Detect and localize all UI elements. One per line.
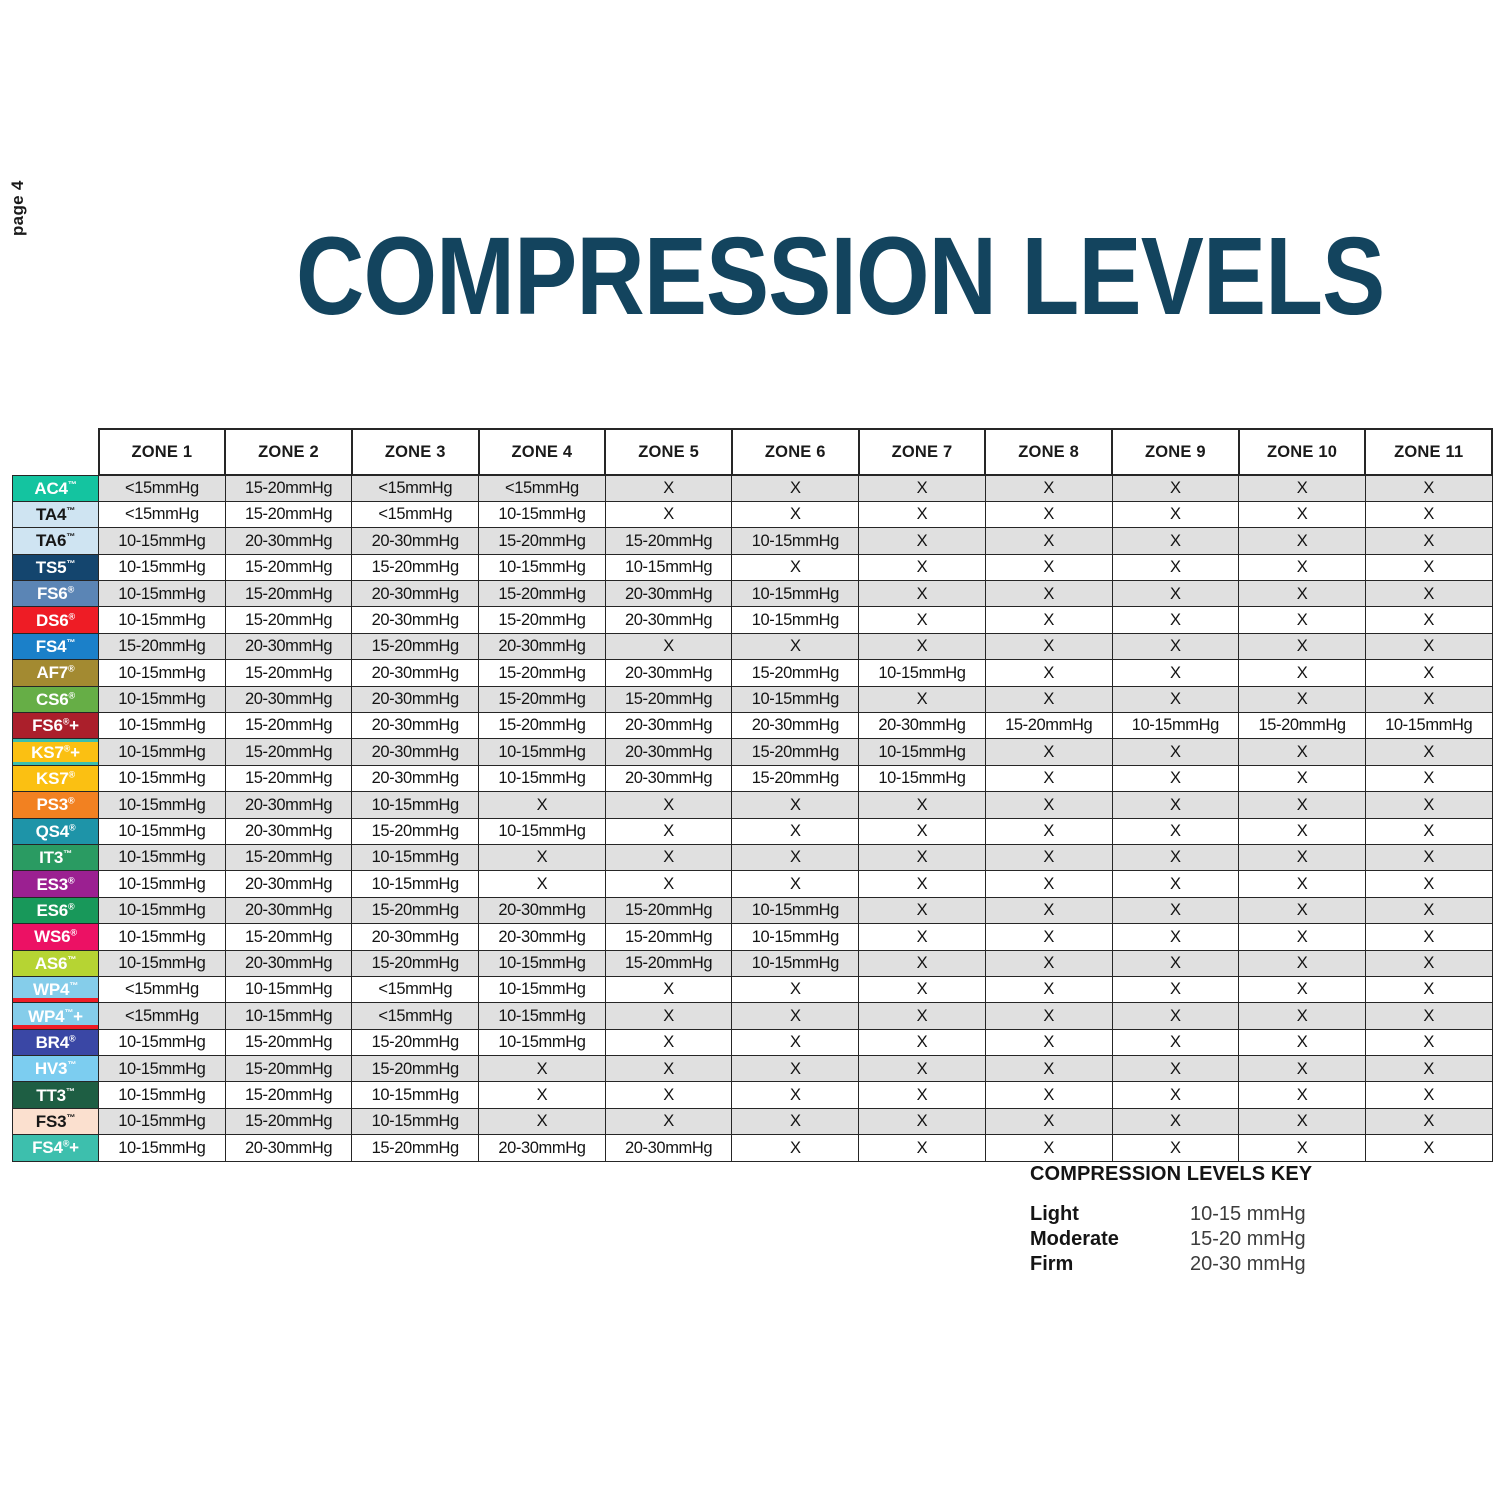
- cell-r5-zone11: X: [1365, 581, 1492, 607]
- cell-r26-zone9: X: [1112, 1135, 1239, 1161]
- product-label-hv3: HV3™: [13, 1056, 99, 1082]
- cell-r12-zone1: 10-15mmHg: [99, 765, 226, 791]
- cell-r3-zone10: X: [1239, 528, 1366, 554]
- cell-r17-zone8: X: [985, 897, 1112, 923]
- cell-r14-zone5: X: [605, 818, 732, 844]
- cell-r15-zone11: X: [1365, 844, 1492, 870]
- cell-r10-zone6: 20-30mmHg: [732, 713, 859, 739]
- cell-r8-zone9: X: [1112, 660, 1239, 686]
- cell-r3-zone2: 20-30mmHg: [225, 528, 352, 554]
- cell-r6-zone5: 20-30mmHg: [605, 607, 732, 633]
- cell-r7-zone2: 20-30mmHg: [225, 633, 352, 659]
- cell-r9-zone9: X: [1112, 686, 1239, 712]
- cell-r14-zone2: 20-30mmHg: [225, 818, 352, 844]
- product-label-fs4: FS4™: [13, 633, 99, 659]
- cell-r2-zone1: <15mmHg: [99, 501, 226, 527]
- cell-r22-zone11: X: [1365, 1029, 1492, 1055]
- cell-r18-zone3: 20-30mmHg: [352, 924, 479, 950]
- cell-r12-zone5: 20-30mmHg: [605, 765, 732, 791]
- cell-r9-zone6: 10-15mmHg: [732, 686, 859, 712]
- cell-r4-zone2: 15-20mmHg: [225, 554, 352, 580]
- cell-r1-zone3: <15mmHg: [352, 475, 479, 501]
- cell-r25-zone2: 15-20mmHg: [225, 1108, 352, 1134]
- cell-r4-zone4: 10-15mmHg: [479, 554, 606, 580]
- cell-r9-zone1: 10-15mmHg: [99, 686, 226, 712]
- cell-r5-zone9: X: [1112, 581, 1239, 607]
- cell-r4-zone9: X: [1112, 554, 1239, 580]
- key-rows: Light10-15 mmHgModerate15-20 mmHgFirm20-…: [1030, 1202, 1450, 1277]
- cell-r2-zone7: X: [859, 501, 986, 527]
- cell-r23-zone3: 15-20mmHg: [352, 1056, 479, 1082]
- zone-header-1: ZONE 1: [99, 429, 226, 475]
- cell-r17-zone4: 20-30mmHg: [479, 897, 606, 923]
- cell-r10-zone4: 15-20mmHg: [479, 713, 606, 739]
- cell-r6-zone7: X: [859, 607, 986, 633]
- cell-r14-zone8: X: [985, 818, 1112, 844]
- cell-r8-zone10: X: [1239, 660, 1366, 686]
- cell-r10-zone5: 20-30mmHg: [605, 713, 732, 739]
- cell-r25-zone7: X: [859, 1108, 986, 1134]
- cell-r18-zone2: 15-20mmHg: [225, 924, 352, 950]
- cell-r7-zone7: X: [859, 633, 986, 659]
- cell-r26-zone6: X: [732, 1135, 859, 1161]
- cell-r21-zone9: X: [1112, 1003, 1239, 1029]
- cell-r22-zone3: 15-20mmHg: [352, 1029, 479, 1055]
- cell-r12-zone7: 10-15mmHg: [859, 765, 986, 791]
- cell-r7-zone5: X: [605, 633, 732, 659]
- cell-r15-zone9: X: [1112, 844, 1239, 870]
- cell-r24-zone9: X: [1112, 1082, 1239, 1108]
- key-term: Moderate: [1030, 1227, 1190, 1252]
- cell-r17-zone5: 15-20mmHg: [605, 897, 732, 923]
- cell-r24-zone5: X: [605, 1082, 732, 1108]
- cell-r17-zone10: X: [1239, 897, 1366, 923]
- zone-header-5: ZONE 5: [605, 429, 732, 475]
- cell-r16-zone10: X: [1239, 871, 1366, 897]
- cell-r23-zone1: 10-15mmHg: [99, 1056, 226, 1082]
- cell-r1-zone11: X: [1365, 475, 1492, 501]
- table-row: CS6®10-15mmHg20-30mmHg20-30mmHg15-20mmHg…: [13, 686, 1493, 712]
- cell-r24-zone8: X: [985, 1082, 1112, 1108]
- cell-r21-zone4: 10-15mmHg: [479, 1003, 606, 1029]
- cell-r11-zone3: 20-30mmHg: [352, 739, 479, 765]
- cell-r13-zone10: X: [1239, 792, 1366, 818]
- cell-r3-zone5: 15-20mmHg: [605, 528, 732, 554]
- table-row: TT3™10-15mmHg15-20mmHg10-15mmHgXXXXXXXX: [13, 1082, 1493, 1108]
- cell-r17-zone7: X: [859, 897, 986, 923]
- product-label-wp4-plus: WP4™+: [13, 1003, 99, 1029]
- cell-r18-zone4: 20-30mmHg: [479, 924, 606, 950]
- cell-r25-zone10: X: [1239, 1108, 1366, 1134]
- cell-r26-zone4: 20-30mmHg: [479, 1135, 606, 1161]
- cell-r13-zone4: X: [479, 792, 606, 818]
- cell-r7-zone3: 15-20mmHg: [352, 633, 479, 659]
- product-label-wp4: WP4™: [13, 976, 99, 1002]
- cell-r15-zone8: X: [985, 844, 1112, 870]
- cell-r5-zone4: 15-20mmHg: [479, 581, 606, 607]
- cell-r25-zone8: X: [985, 1108, 1112, 1134]
- cell-r14-zone3: 15-20mmHg: [352, 818, 479, 844]
- cell-r11-zone10: X: [1239, 739, 1366, 765]
- cell-r22-zone8: X: [985, 1029, 1112, 1055]
- cell-r7-zone4: 20-30mmHg: [479, 633, 606, 659]
- table-row: AC4™<15mmHg15-20mmHg<15mmHg<15mmHgXXXXXX…: [13, 475, 1493, 501]
- zone-header-11: ZONE 11: [1365, 429, 1492, 475]
- cell-r19-zone3: 15-20mmHg: [352, 950, 479, 976]
- cell-r9-zone8: X: [985, 686, 1112, 712]
- cell-r14-zone4: 10-15mmHg: [479, 818, 606, 844]
- cell-r4-zone1: 10-15mmHg: [99, 554, 226, 580]
- zone-header-4: ZONE 4: [479, 429, 606, 475]
- cell-r22-zone2: 15-20mmHg: [225, 1029, 352, 1055]
- cell-r16-zone6: X: [732, 871, 859, 897]
- cell-r11-zone4: 10-15mmHg: [479, 739, 606, 765]
- cell-r26-zone2: 20-30mmHg: [225, 1135, 352, 1161]
- cell-r15-zone3: 10-15mmHg: [352, 844, 479, 870]
- cell-r11-zone2: 15-20mmHg: [225, 739, 352, 765]
- cell-r5-zone2: 15-20mmHg: [225, 581, 352, 607]
- cell-r21-zone5: X: [605, 1003, 732, 1029]
- cell-r7-zone10: X: [1239, 633, 1366, 659]
- cell-r13-zone8: X: [985, 792, 1112, 818]
- cell-r18-zone11: X: [1365, 924, 1492, 950]
- cell-r14-zone7: X: [859, 818, 986, 844]
- cell-r18-zone7: X: [859, 924, 986, 950]
- key-value: 10-15 mmHg: [1190, 1202, 1306, 1227]
- cell-r24-zone11: X: [1365, 1082, 1492, 1108]
- cell-r8-zone7: 10-15mmHg: [859, 660, 986, 686]
- table-row: TA6™10-15mmHg20-30mmHg20-30mmHg15-20mmHg…: [13, 528, 1493, 554]
- cell-r15-zone4: X: [479, 844, 606, 870]
- cell-r9-zone2: 20-30mmHg: [225, 686, 352, 712]
- cell-r17-zone6: 10-15mmHg: [732, 897, 859, 923]
- cell-r11-zone7: 10-15mmHg: [859, 739, 986, 765]
- cell-r6-zone10: X: [1239, 607, 1366, 633]
- cell-r16-zone3: 10-15mmHg: [352, 871, 479, 897]
- cell-r18-zone10: X: [1239, 924, 1366, 950]
- table-row: KS7®+10-15mmHg15-20mmHg20-30mmHg10-15mmH…: [13, 739, 1493, 765]
- cell-r18-zone8: X: [985, 924, 1112, 950]
- table-row: QS4®10-15mmHg20-30mmHg15-20mmHg10-15mmHg…: [13, 818, 1493, 844]
- cell-r15-zone7: X: [859, 844, 986, 870]
- cell-r20-zone1: <15mmHg: [99, 976, 226, 1002]
- cell-r24-zone1: 10-15mmHg: [99, 1082, 226, 1108]
- cell-r6-zone3: 20-30mmHg: [352, 607, 479, 633]
- cell-r20-zone8: X: [985, 976, 1112, 1002]
- cell-r21-zone11: X: [1365, 1003, 1492, 1029]
- cell-r16-zone1: 10-15mmHg: [99, 871, 226, 897]
- cell-r5-zone5: 20-30mmHg: [605, 581, 732, 607]
- table-row: FS4®+10-15mmHg20-30mmHg15-20mmHg20-30mmH…: [13, 1135, 1493, 1161]
- cell-r14-zone11: X: [1365, 818, 1492, 844]
- zone-header-9: ZONE 9: [1112, 429, 1239, 475]
- cell-r24-zone4: X: [479, 1082, 606, 1108]
- zone-header-7: ZONE 7: [859, 429, 986, 475]
- cell-r25-zone9: X: [1112, 1108, 1239, 1134]
- key-term: Light: [1030, 1202, 1190, 1227]
- product-label-cs6: CS6®: [13, 686, 99, 712]
- cell-r18-zone9: X: [1112, 924, 1239, 950]
- cell-r19-zone7: X: [859, 950, 986, 976]
- cell-r13-zone5: X: [605, 792, 732, 818]
- cell-r20-zone6: X: [732, 976, 859, 1002]
- cell-r16-zone11: X: [1365, 871, 1492, 897]
- cell-r5-zone1: 10-15mmHg: [99, 581, 226, 607]
- cell-r26-zone3: 15-20mmHg: [352, 1135, 479, 1161]
- cell-r24-zone6: X: [732, 1082, 859, 1108]
- cell-r12-zone3: 20-30mmHg: [352, 765, 479, 791]
- table-row: WS6®10-15mmHg15-20mmHg20-30mmHg20-30mmHg…: [13, 924, 1493, 950]
- cell-r14-zone9: X: [1112, 818, 1239, 844]
- cell-r4-zone7: X: [859, 554, 986, 580]
- cell-r21-zone2: 10-15mmHg: [225, 1003, 352, 1029]
- product-label-ds6: DS6®: [13, 607, 99, 633]
- cell-r19-zone4: 10-15mmHg: [479, 950, 606, 976]
- cell-r6-zone6: 10-15mmHg: [732, 607, 859, 633]
- cell-r5-zone8: X: [985, 581, 1112, 607]
- table-row: FS6®+10-15mmHg15-20mmHg20-30mmHg15-20mmH…: [13, 713, 1493, 739]
- table-row: ES6®10-15mmHg20-30mmHg15-20mmHg20-30mmHg…: [13, 897, 1493, 923]
- cell-r2-zone5: X: [605, 501, 732, 527]
- cell-r23-zone7: X: [859, 1056, 986, 1082]
- cell-r9-zone11: X: [1365, 686, 1492, 712]
- cell-r1-zone4: <15mmHg: [479, 475, 606, 501]
- cell-r6-zone8: X: [985, 607, 1112, 633]
- cell-r10-zone2: 15-20mmHg: [225, 713, 352, 739]
- cell-r24-zone3: 10-15mmHg: [352, 1082, 479, 1108]
- cell-r2-zone6: X: [732, 501, 859, 527]
- table-row: HV3™10-15mmHg15-20mmHg15-20mmHgXXXXXXXX: [13, 1056, 1493, 1082]
- cell-r10-zone9: 10-15mmHg: [1112, 713, 1239, 739]
- cell-r1-zone7: X: [859, 475, 986, 501]
- cell-r22-zone7: X: [859, 1029, 986, 1055]
- cell-r10-zone8: 15-20mmHg: [985, 713, 1112, 739]
- cell-r23-zone11: X: [1365, 1056, 1492, 1082]
- cell-r5-zone6: 10-15mmHg: [732, 581, 859, 607]
- cell-r21-zone8: X: [985, 1003, 1112, 1029]
- cell-r1-zone2: 15-20mmHg: [225, 475, 352, 501]
- cell-r12-zone10: X: [1239, 765, 1366, 791]
- table-row: TS5™10-15mmHg15-20mmHg15-20mmHg10-15mmHg…: [13, 554, 1493, 580]
- key-entry: Firm20-30 mmHg: [1030, 1252, 1450, 1277]
- cell-r13-zone1: 10-15mmHg: [99, 792, 226, 818]
- cell-r20-zone10: X: [1239, 976, 1366, 1002]
- zone-header-row: ZONE 1ZONE 2ZONE 3ZONE 4ZONE 5ZONE 6ZONE…: [13, 429, 1493, 475]
- cell-r2-zone8: X: [985, 501, 1112, 527]
- cell-r3-zone1: 10-15mmHg: [99, 528, 226, 554]
- product-label-ws6: WS6®: [13, 924, 99, 950]
- cell-r7-zone9: X: [1112, 633, 1239, 659]
- cell-r18-zone6: 10-15mmHg: [732, 924, 859, 950]
- cell-r7-zone8: X: [985, 633, 1112, 659]
- cell-r13-zone2: 20-30mmHg: [225, 792, 352, 818]
- cell-r25-zone11: X: [1365, 1108, 1492, 1134]
- cell-r5-zone10: X: [1239, 581, 1366, 607]
- compression-levels-table: ZONE 1ZONE 2ZONE 3ZONE 4ZONE 5ZONE 6ZONE…: [12, 428, 1493, 1162]
- cell-r22-zone6: X: [732, 1029, 859, 1055]
- product-label-as6: AS6™: [13, 950, 99, 976]
- cell-r11-zone1: 10-15mmHg: [99, 739, 226, 765]
- cell-r1-zone1: <15mmHg: [99, 475, 226, 501]
- cell-r18-zone1: 10-15mmHg: [99, 924, 226, 950]
- cell-r12-zone6: 15-20mmHg: [732, 765, 859, 791]
- cell-r3-zone8: X: [985, 528, 1112, 554]
- cell-r22-zone4: 10-15mmHg: [479, 1029, 606, 1055]
- cell-r3-zone4: 15-20mmHg: [479, 528, 606, 554]
- cell-r20-zone4: 10-15mmHg: [479, 976, 606, 1002]
- cell-r21-zone10: X: [1239, 1003, 1366, 1029]
- cell-r7-zone6: X: [732, 633, 859, 659]
- cell-r5-zone3: 20-30mmHg: [352, 581, 479, 607]
- cell-r17-zone1: 10-15mmHg: [99, 897, 226, 923]
- cell-r8-zone8: X: [985, 660, 1112, 686]
- cell-r19-zone1: 10-15mmHg: [99, 950, 226, 976]
- cell-r6-zone1: 10-15mmHg: [99, 607, 226, 633]
- cell-r26-zone10: X: [1239, 1135, 1366, 1161]
- cell-r2-zone10: X: [1239, 501, 1366, 527]
- cell-r17-zone9: X: [1112, 897, 1239, 923]
- cell-r2-zone2: 15-20mmHg: [225, 501, 352, 527]
- cell-r3-zone7: X: [859, 528, 986, 554]
- cell-r8-zone3: 20-30mmHg: [352, 660, 479, 686]
- cell-r9-zone5: 15-20mmHg: [605, 686, 732, 712]
- cell-r23-zone4: X: [479, 1056, 606, 1082]
- cell-r1-zone5: X: [605, 475, 732, 501]
- cell-r7-zone11: X: [1365, 633, 1492, 659]
- cell-r8-zone11: X: [1365, 660, 1492, 686]
- cell-r20-zone9: X: [1112, 976, 1239, 1002]
- product-label-qs4: QS4®: [13, 818, 99, 844]
- product-label-af7: AF7®: [13, 660, 99, 686]
- table-row: IT3™10-15mmHg15-20mmHg10-15mmHgXXXXXXXX: [13, 844, 1493, 870]
- cell-r1-zone8: X: [985, 475, 1112, 501]
- cell-r16-zone2: 20-30mmHg: [225, 871, 352, 897]
- cell-r26-zone5: 20-30mmHg: [605, 1135, 732, 1161]
- cell-r16-zone4: X: [479, 871, 606, 897]
- cell-r26-zone7: X: [859, 1135, 986, 1161]
- cell-r15-zone5: X: [605, 844, 732, 870]
- product-label-fs6: FS6®: [13, 581, 99, 607]
- cell-r8-zone6: 15-20mmHg: [732, 660, 859, 686]
- cell-r4-zone10: X: [1239, 554, 1366, 580]
- cell-r13-zone6: X: [732, 792, 859, 818]
- key-value: 20-30 mmHg: [1190, 1252, 1306, 1277]
- cell-r10-zone3: 20-30mmHg: [352, 713, 479, 739]
- product-label-ac4: AC4™: [13, 475, 99, 501]
- product-label-fs4-plus: FS4®+: [13, 1135, 99, 1161]
- compression-levels-key: COMPRESSION LEVELS KEY Light10-15 mmHgMo…: [1030, 1163, 1450, 1277]
- cell-r12-zone9: X: [1112, 765, 1239, 791]
- cell-r14-zone1: 10-15mmHg: [99, 818, 226, 844]
- table-header: ZONE 1ZONE 2ZONE 3ZONE 4ZONE 5ZONE 6ZONE…: [13, 429, 1493, 475]
- zone-header-10: ZONE 10: [1239, 429, 1366, 475]
- key-title: COMPRESSION LEVELS KEY: [1030, 1163, 1450, 1186]
- page-title: COMPRESSION LEVELS: [296, 222, 1384, 332]
- cell-r12-zone8: X: [985, 765, 1112, 791]
- cell-r23-zone6: X: [732, 1056, 859, 1082]
- table-row: FS6®10-15mmHg15-20mmHg20-30mmHg15-20mmHg…: [13, 581, 1493, 607]
- key-value: 15-20 mmHg: [1190, 1227, 1306, 1252]
- cell-r17-zone2: 20-30mmHg: [225, 897, 352, 923]
- product-label-ta4: TA4™: [13, 501, 99, 527]
- table-row: WP4™<15mmHg10-15mmHg<15mmHg10-15mmHgXXXX…: [13, 976, 1493, 1002]
- key-term: Firm: [1030, 1252, 1190, 1277]
- table-row: WP4™+<15mmHg10-15mmHg<15mmHg10-15mmHgXXX…: [13, 1003, 1493, 1029]
- cell-r21-zone7: X: [859, 1003, 986, 1029]
- cell-r24-zone7: X: [859, 1082, 986, 1108]
- table-row: PS3®10-15mmHg20-30mmHg10-15mmHgXXXXXXXX: [13, 792, 1493, 818]
- cell-r15-zone6: X: [732, 844, 859, 870]
- cell-r16-zone8: X: [985, 871, 1112, 897]
- cell-r23-zone10: X: [1239, 1056, 1366, 1082]
- cell-r23-zone8: X: [985, 1056, 1112, 1082]
- table-row: FS4™15-20mmHg20-30mmHg15-20mmHg20-30mmHg…: [13, 633, 1493, 659]
- cell-r20-zone7: X: [859, 976, 986, 1002]
- key-entry: Moderate15-20 mmHg: [1030, 1227, 1450, 1252]
- product-label-tt3: TT3™: [13, 1082, 99, 1108]
- cell-r4-zone6: X: [732, 554, 859, 580]
- cell-r8-zone4: 15-20mmHg: [479, 660, 606, 686]
- cell-r13-zone11: X: [1365, 792, 1492, 818]
- cell-r12-zone4: 10-15mmHg: [479, 765, 606, 791]
- cell-r4-zone3: 15-20mmHg: [352, 554, 479, 580]
- cell-r19-zone2: 20-30mmHg: [225, 950, 352, 976]
- zone-header-6: ZONE 6: [732, 429, 859, 475]
- cell-r10-zone10: 15-20mmHg: [1239, 713, 1366, 739]
- cell-r19-zone6: 10-15mmHg: [732, 950, 859, 976]
- cell-r19-zone8: X: [985, 950, 1112, 976]
- cell-r17-zone3: 15-20mmHg: [352, 897, 479, 923]
- cell-r25-zone1: 10-15mmHg: [99, 1108, 226, 1134]
- cell-r14-zone10: X: [1239, 818, 1366, 844]
- table-row: AS6™10-15mmHg20-30mmHg15-20mmHg10-15mmHg…: [13, 950, 1493, 976]
- cell-r16-zone9: X: [1112, 871, 1239, 897]
- cell-r16-zone5: X: [605, 871, 732, 897]
- cell-r10-zone11: 10-15mmHg: [1365, 713, 1492, 739]
- cell-r20-zone11: X: [1365, 976, 1492, 1002]
- cell-r15-zone1: 10-15mmHg: [99, 844, 226, 870]
- cell-r22-zone5: X: [605, 1029, 732, 1055]
- cell-r25-zone4: X: [479, 1108, 606, 1134]
- cell-r8-zone5: 20-30mmHg: [605, 660, 732, 686]
- cell-r22-zone9: X: [1112, 1029, 1239, 1055]
- product-label-es3: ES3®: [13, 871, 99, 897]
- cell-r18-zone5: 15-20mmHg: [605, 924, 732, 950]
- zone-header-8: ZONE 8: [985, 429, 1112, 475]
- cell-r9-zone4: 15-20mmHg: [479, 686, 606, 712]
- cell-r25-zone6: X: [732, 1108, 859, 1134]
- cell-r6-zone9: X: [1112, 607, 1239, 633]
- cell-r11-zone5: 20-30mmHg: [605, 739, 732, 765]
- product-label-br4: BR4®: [13, 1029, 99, 1055]
- cell-r3-zone9: X: [1112, 528, 1239, 554]
- product-label-ps3: PS3®: [13, 792, 99, 818]
- cell-r22-zone1: 10-15mmHg: [99, 1029, 226, 1055]
- cell-r9-zone3: 20-30mmHg: [352, 686, 479, 712]
- cell-r5-zone7: X: [859, 581, 986, 607]
- cell-r13-zone9: X: [1112, 792, 1239, 818]
- table-row: DS6®10-15mmHg15-20mmHg20-30mmHg15-20mmHg…: [13, 607, 1493, 633]
- cell-r7-zone1: 15-20mmHg: [99, 633, 226, 659]
- cell-r6-zone4: 15-20mmHg: [479, 607, 606, 633]
- cell-r23-zone2: 15-20mmHg: [225, 1056, 352, 1082]
- cell-r25-zone3: 10-15mmHg: [352, 1108, 479, 1134]
- product-label-ts5: TS5™: [13, 554, 99, 580]
- cell-r23-zone9: X: [1112, 1056, 1239, 1082]
- product-label-ta6: TA6™: [13, 528, 99, 554]
- key-entry: Light10-15 mmHg: [1030, 1202, 1450, 1227]
- cell-r24-zone10: X: [1239, 1082, 1366, 1108]
